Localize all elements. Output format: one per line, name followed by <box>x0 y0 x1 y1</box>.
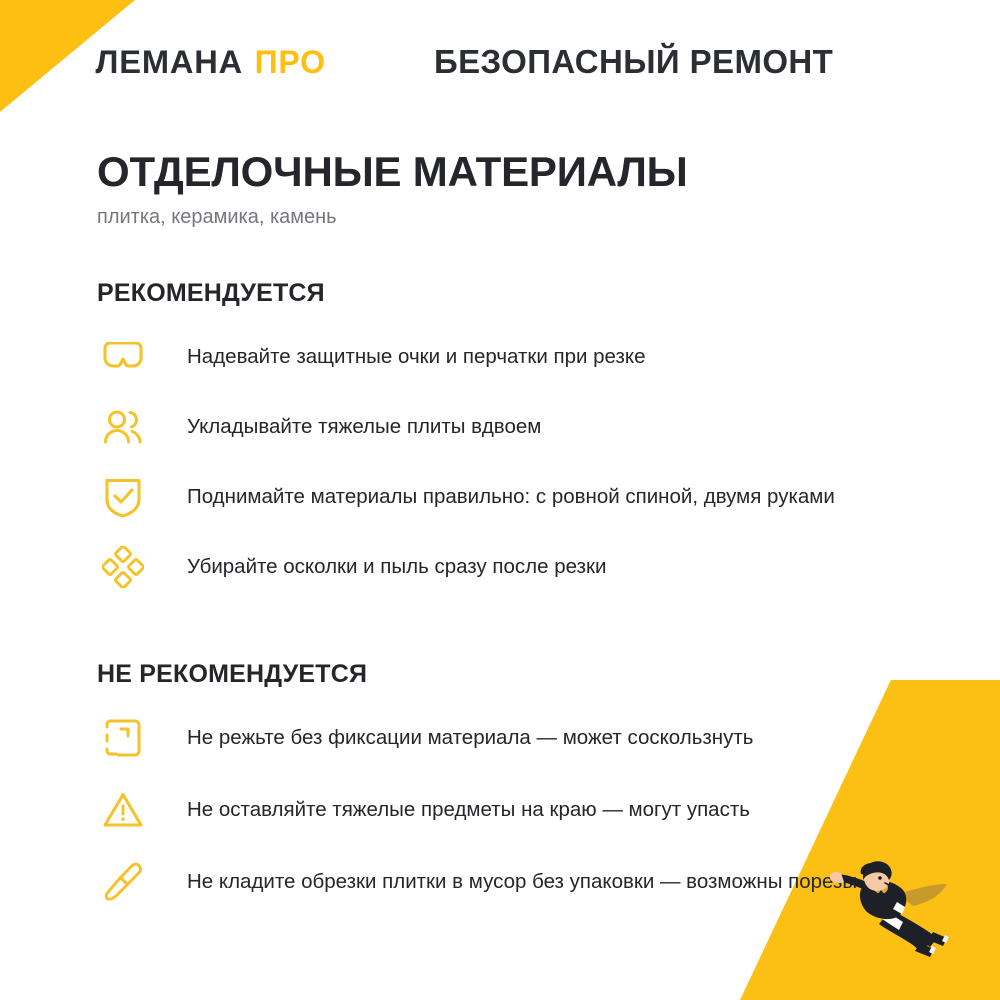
list-item: Не кладите обрезки плитки в мусор без уп… <box>97 859 917 905</box>
list-item: Убирайте осколки и пыль сразу после резк… <box>97 544 917 590</box>
shield-check-icon <box>97 474 149 520</box>
logo-text-lemana: ЛЕМАНА <box>96 44 243 81</box>
list-item: Не оставляйте тяжелые предметы на краю —… <box>97 787 917 833</box>
section-not-recommended: НЕ РЕКОМЕНДУЕТСЯ Не режьте без фиксации … <box>97 660 917 905</box>
page-subtitle: плитка, керамика, камень <box>97 206 917 229</box>
list-item-label: Не оставляйте тяжелые предметы на краю —… <box>187 787 750 824</box>
main-content: ОТДЕЛОЧНЫЕ МАТЕРИАЛЫ плитка, керамика, к… <box>97 150 917 931</box>
knife-icon <box>97 859 149 905</box>
list-item: Не режьте без фиксации материала — может… <box>97 715 917 761</box>
list-item-label: Поднимайте материалы правильно: с ровной… <box>187 474 835 511</box>
list-item-label: Укладывайте тяжелые плиты вдвоем <box>187 404 541 441</box>
unfixed-frame-icon <box>97 715 149 761</box>
list-item: Надевайте защитные очки и перчатки при р… <box>97 334 917 380</box>
logo-text-pro: ПРО <box>255 44 326 81</box>
safety-goggles-icon <box>97 334 149 380</box>
header-title: БЕЗОПАСНЫЙ РЕМОНТ <box>434 43 833 81</box>
section-heading-not-recommended: НЕ РЕКОМЕНДУЕТСЯ <box>97 660 917 689</box>
poster-root: ЛЕМАНА ПРО БЕЗОПАСНЫЙ РЕМОНТ ОТДЕЛОЧНЫЕ … <box>0 0 1000 1000</box>
section-recommended: РЕКОМЕНДУЕТСЯ Надевайте защитные очки и … <box>97 279 917 590</box>
list-item-label: Не кладите обрезки плитки в мусор без уп… <box>187 859 857 896</box>
flying-superhero-mascot <box>825 854 965 962</box>
header: ЛЕМАНА ПРО БЕЗОПАСНЫЙ РЕМОНТ <box>0 0 1000 112</box>
list-item-label: Надевайте защитные очки и перчатки при р… <box>187 334 645 371</box>
four-diamonds-icon <box>97 544 149 590</box>
list-item: Укладывайте тяжелые плиты вдвоем <box>97 404 917 450</box>
warning-triangle-icon <box>97 787 149 833</box>
page-title: ОТДЕЛОЧНЫЕ МАТЕРИАЛЫ <box>97 150 917 194</box>
list-item: Поднимайте материалы правильно: с ровной… <box>97 474 917 520</box>
section-heading-recommended: РЕКОМЕНДУЕТСЯ <box>97 279 917 308</box>
brand-logo: ЛЕМАНА ПРО <box>97 44 326 81</box>
two-people-icon <box>97 404 149 450</box>
list-item-label: Убирайте осколки и пыль сразу после резк… <box>187 544 606 581</box>
list-item-label: Не режьте без фиксации материала — может… <box>187 715 753 752</box>
